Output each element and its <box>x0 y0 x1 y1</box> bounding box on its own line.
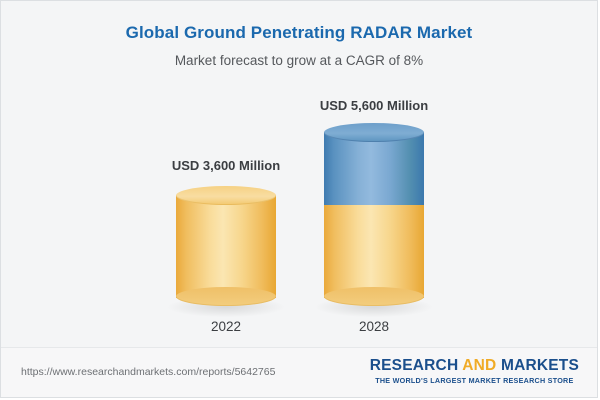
source-url[interactable]: https://www.researchandmarkets.com/repor… <box>21 366 275 378</box>
value-label-2028: USD 5,600 Million <box>274 98 474 113</box>
logo-word-markets: MARKETS <box>496 357 579 374</box>
cylinder-2028 <box>324 123 424 306</box>
cylinder-bottom-ellipse-2022 <box>176 287 276 306</box>
category-label-2028: 2028 <box>274 319 474 334</box>
chart-footer: https://www.researchandmarkets.com/repor… <box>1 347 597 397</box>
cylinder-bottom-ellipse-2028 <box>324 287 424 306</box>
cylinder-segment-growth-2028 <box>324 123 424 205</box>
chart-card: Global Ground Penetrating RADAR Market M… <box>0 0 598 398</box>
cylinder-top-ellipse-2022 <box>176 186 276 205</box>
logo-wordmark: RESEARCH AND MARKETS <box>370 357 579 374</box>
logo-tagline: THE WORLD'S LARGEST MARKET RESEARCH STOR… <box>370 376 579 385</box>
cylinder-2022 <box>176 186 276 306</box>
bar-group-2028: USD 5,600 Million 2028 <box>274 1 474 349</box>
logo-word-and: AND <box>462 357 496 374</box>
chart-plot-area: Global Ground Penetrating RADAR Market M… <box>1 1 597 349</box>
cylinder-body-gold-2022 <box>176 195 276 298</box>
cylinder-segment-base-2022 <box>176 186 276 306</box>
cylinder-body-gold-2028 <box>324 195 424 298</box>
logo-word-research: RESEARCH <box>370 357 463 374</box>
cylinder-body-blue-2028 <box>324 132 424 205</box>
cylinder-top-ellipse-2028 <box>324 123 424 142</box>
brand-logo: RESEARCH AND MARKETS THE WORLD'S LARGEST… <box>370 357 579 385</box>
